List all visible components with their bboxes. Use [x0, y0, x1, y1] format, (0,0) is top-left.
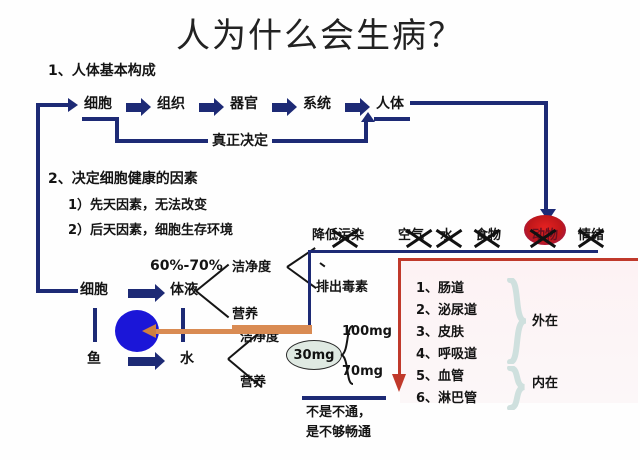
diagram-canvas: 人为什么会生病？ 1、人体基本构成 细胞 组织 器官 系统 人体 真正决定 2、…	[0, 0, 640, 460]
fish-to-water-arrow	[128, 357, 156, 366]
branch-to-detox-connector	[319, 262, 325, 267]
feedback-label: 真正决定	[212, 134, 268, 148]
body-to-animal-horizontal	[410, 101, 548, 105]
strike-food	[472, 224, 502, 250]
detox-box-left-line	[308, 250, 311, 328]
upper-branch-line-bottom	[195, 290, 229, 318]
left-loop-arrowhead	[68, 98, 78, 112]
orange-feedback-line	[150, 329, 312, 334]
flow-node-body-underline	[374, 117, 410, 121]
section2-item-1: 1）先天因素，无法改变	[68, 199, 207, 212]
flow-node-body: 人体	[376, 97, 404, 111]
note-underline-bar	[302, 396, 386, 400]
flow-node-tissue: 组织	[157, 97, 185, 111]
upper-branch-out-bottom	[286, 266, 316, 289]
flow-node-cell: 细胞	[84, 97, 112, 111]
channel-item-5: 5、血管	[416, 370, 464, 383]
middle-water-label: 水	[180, 352, 194, 366]
dose-oval-30mg: 30mg	[286, 340, 342, 370]
section2-heading: 2、决定细胞健康的因素	[48, 172, 198, 186]
orange-line-upper-segment	[232, 325, 312, 329]
detox-box-top-line	[308, 250, 598, 253]
channel-item-3: 3、皮肤	[416, 326, 464, 339]
flow-node-system: 系统	[303, 97, 331, 111]
upper-branch-cleanliness: 洁净度	[232, 261, 271, 274]
channel-item-4: 4、呼吸道	[416, 348, 477, 361]
feedback-up-vertical	[364, 120, 368, 141]
channel-item-2: 2、泌尿道	[416, 304, 477, 317]
brace-inner-group	[506, 366, 526, 410]
page-title: 人为什么会生病？	[0, 8, 640, 57]
brace-outer-group	[506, 278, 526, 364]
left-loop-top-horizontal	[36, 103, 70, 107]
feedback-left-horizontal	[115, 139, 208, 143]
middle-fish-label: 鱼	[87, 352, 101, 366]
feedback-arrowhead	[361, 112, 375, 122]
water-percentage-label: 60%-70%	[150, 259, 223, 273]
flow-node-organ: 器官	[230, 97, 258, 111]
left-loop-bottom-horizontal	[36, 289, 78, 293]
flow-arrow-1	[126, 103, 142, 112]
detox-label: 排出毒素	[316, 281, 368, 294]
flow-arrow-3	[272, 103, 288, 112]
flow-arrow-4	[345, 103, 361, 112]
dose-high-100mg: 100mg	[342, 325, 392, 338]
orange-feedback-arrowhead	[142, 324, 156, 338]
flow-arrow-2	[199, 103, 215, 112]
section1-heading: 1、人体基本构成	[48, 64, 156, 78]
middle-cell-label: 细胞	[80, 283, 108, 297]
note-line-2: 是不够畅通	[306, 426, 371, 439]
dose-low-70mg: 70mg	[342, 365, 383, 378]
cell-fish-separator	[93, 308, 97, 342]
lower-branch-nutrition: 营养	[240, 376, 266, 389]
red-box-left-line	[398, 258, 401, 376]
red-box-top-line	[398, 258, 638, 261]
flow-node-cell-underline	[82, 117, 118, 121]
channel-item-6: 6、淋巴管	[416, 392, 477, 405]
body-to-animal-vertical	[544, 101, 548, 213]
upper-branch-nutrition: 营养	[232, 308, 258, 321]
strike-emotion	[576, 224, 606, 250]
section2-item-2: 2）后天因素，细胞生存环境	[68, 224, 233, 237]
group-label-inner: 内在	[532, 377, 558, 390]
strike-reduce-pollution	[330, 224, 360, 250]
middle-fluid-label: 体液	[170, 283, 198, 297]
feedback-right-horizontal	[272, 139, 368, 143]
fluid-water-separator	[181, 308, 185, 342]
channel-item-1: 1、肠道	[416, 282, 464, 295]
group-label-outer: 外在	[532, 315, 558, 328]
red-arrow-down	[392, 374, 406, 392]
note-line-1: 不是不通，	[306, 406, 371, 419]
strike-water	[434, 224, 464, 250]
left-loop-vertical	[36, 103, 40, 293]
strike-air	[404, 224, 434, 250]
cell-to-fluid-arrow	[128, 289, 156, 298]
strike-animal	[528, 224, 558, 250]
